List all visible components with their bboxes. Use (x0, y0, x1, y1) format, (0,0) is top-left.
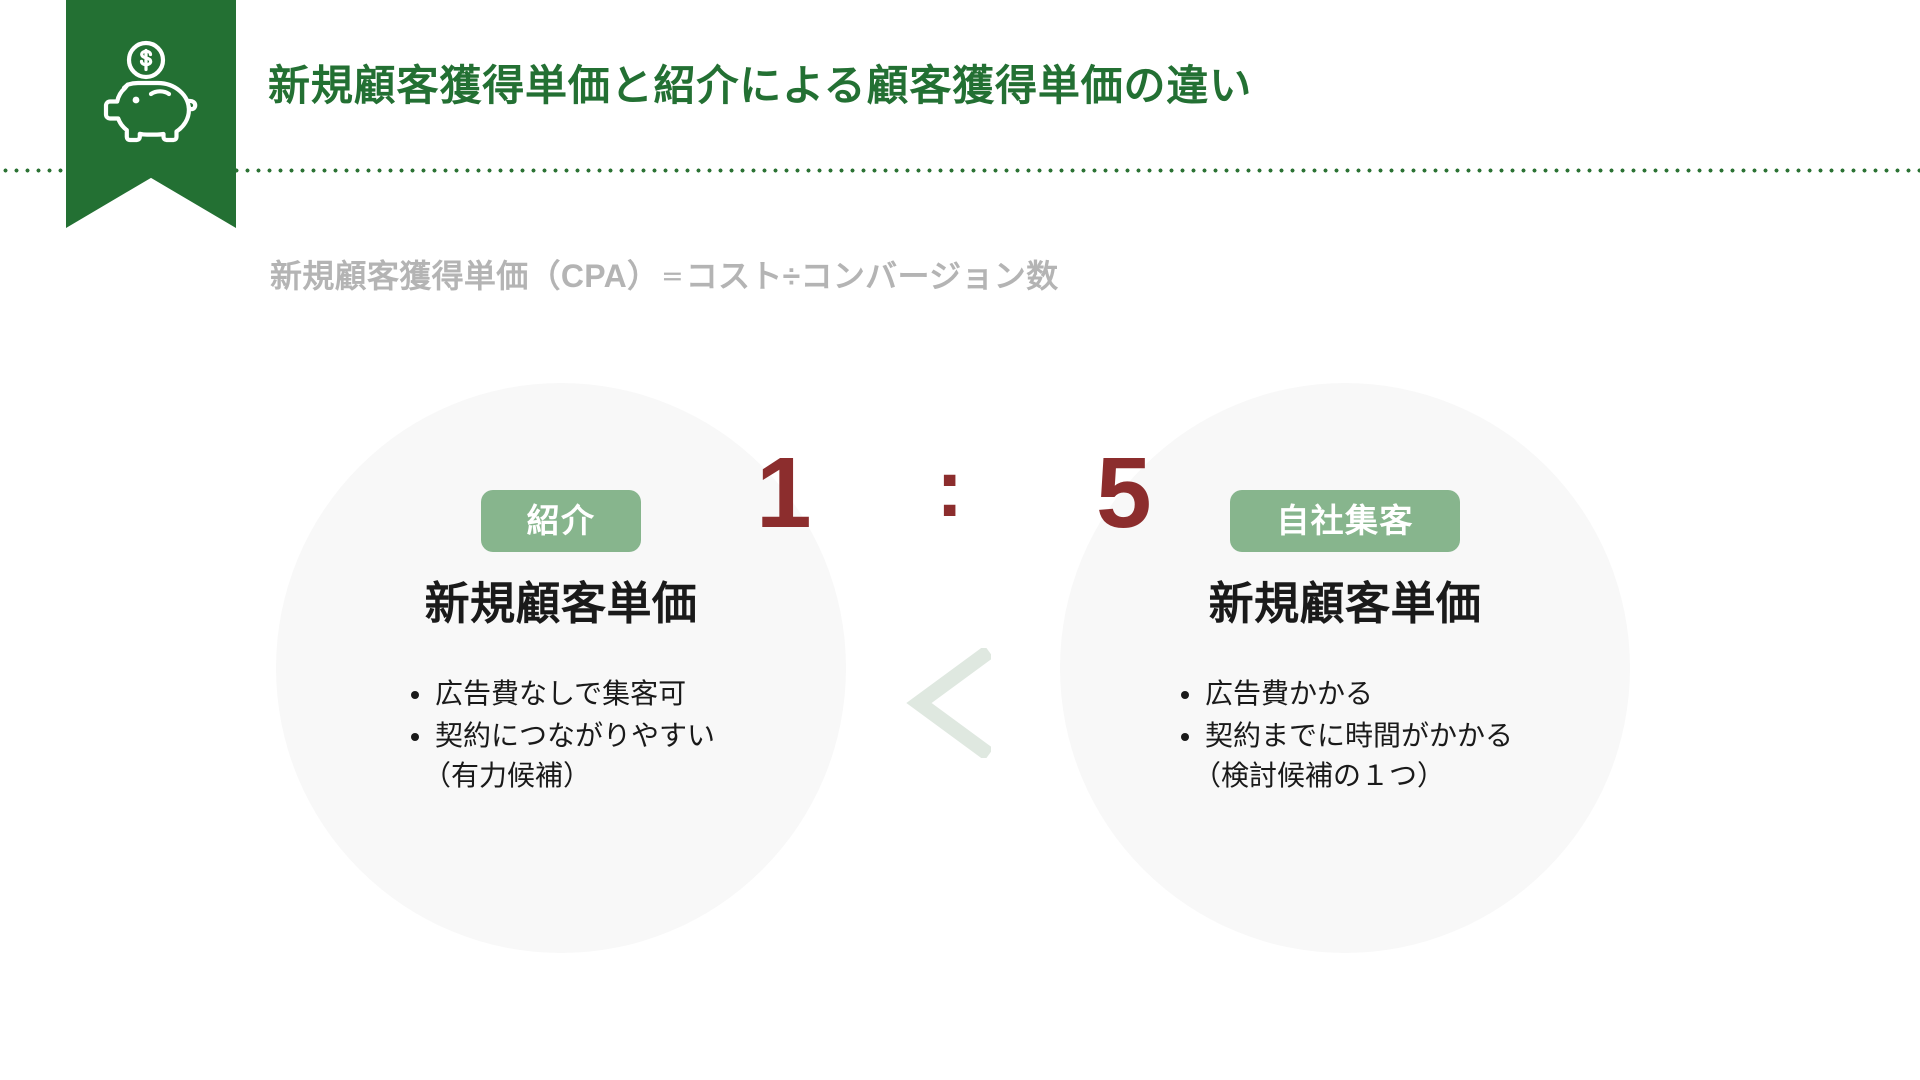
list-item: 広告費なしで集客可 (407, 674, 715, 714)
column-referral: 紹介 新規顧客単価 広告費なしで集客可 契約につながりやすい （有力候補） (276, 490, 846, 797)
less-than-chevron-icon (905, 648, 991, 758)
heading-own-acquisition: 新規顧客単価 (1060, 578, 1630, 630)
ratio-separator: : (936, 448, 963, 530)
badge-own-acquisition: 自社集客 (1230, 490, 1459, 552)
bullet-text: 契約までに時間がかかる (1205, 720, 1513, 751)
list-item: 契約につながりやすい （有力候補） (407, 716, 715, 796)
bullet-text-continuation: （検討候補の１つ） (1193, 756, 1513, 796)
bullet-text-continuation: （有力候補） (423, 756, 715, 796)
column-own-acquisition: 自社集客 新規顧客単価 広告費かかる 契約までに時間がかかる （検討候補の１つ） (1060, 490, 1630, 797)
list-item: 広告費かかる (1177, 674, 1513, 714)
badge-referral: 紹介 (481, 490, 642, 552)
heading-referral: 新規顧客単価 (276, 578, 846, 630)
list-item: 契約までに時間がかかる （検討候補の１つ） (1177, 716, 1513, 796)
comparison-diagram: 1 : 5 紹介 新規顧客単価 広告費なしで集客可 契約につながりやすい （有力… (0, 0, 1920, 1080)
bullet-list-own-acquisition: 広告費かかる 契約までに時間がかかる （検討候補の１つ） (1177, 674, 1513, 797)
bullet-text: 契約につながりやすい (435, 720, 715, 751)
bullet-text: 広告費なしで集客可 (435, 678, 686, 709)
bullet-list-referral: 広告費なしで集客可 契約につながりやすい （有力候補） (407, 674, 715, 797)
bullet-text: 広告費かかる (1205, 678, 1373, 709)
